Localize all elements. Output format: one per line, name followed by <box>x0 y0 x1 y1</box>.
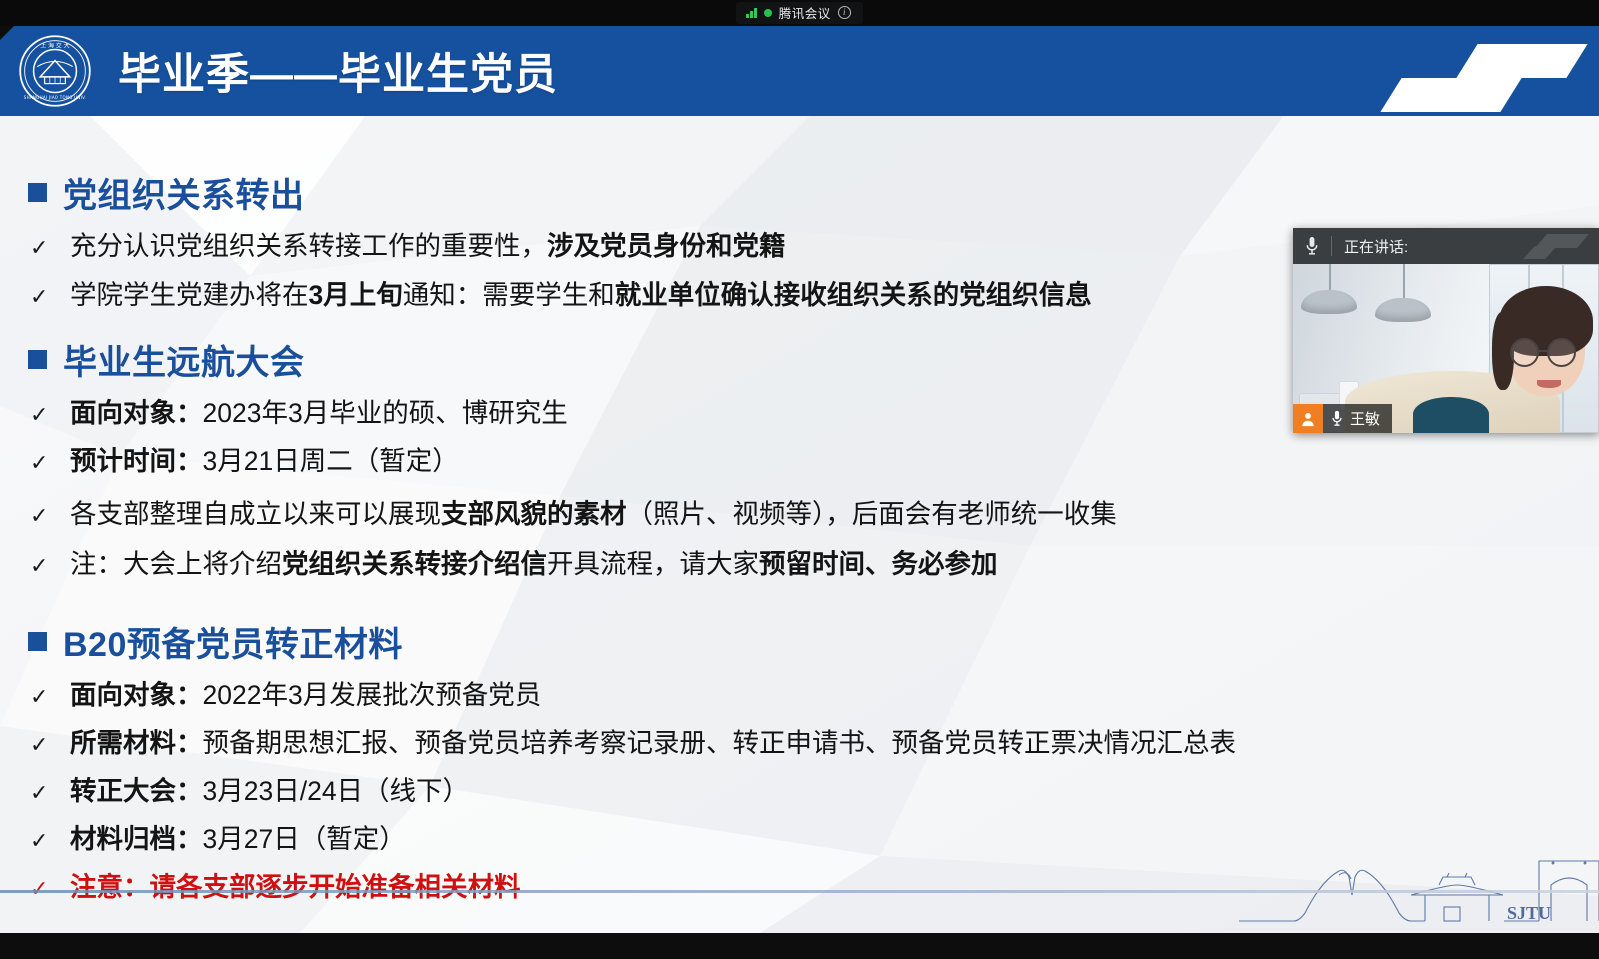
speaking-status-label: 正在讲话: <box>1344 236 1408 257</box>
square-bullet-icon <box>28 350 47 369</box>
bullet-item-text: 所需材料：预备期思想汇报、预备党员培养考察记录册、转正申请书、预备党员转正票决情… <box>70 721 1236 760</box>
bullet-item-text: 材料归档：3月27日（暂定） <box>70 817 406 856</box>
bullet-item-text: 预计时间：3月21日周二（暂定） <box>70 439 459 478</box>
section-heading: B20预备党员转正材料 <box>28 617 403 666</box>
speaker-name-chip: 王敏 <box>1323 404 1392 433</box>
check-icon: ✓ <box>30 503 46 529</box>
section-heading: 毕业生远航大会 <box>28 335 305 384</box>
video-feed: 王敏 <box>1293 264 1599 433</box>
eyeglasses-icon <box>1510 338 1539 367</box>
microphone-icon[interactable] <box>1305 236 1319 256</box>
microphone-icon <box>1331 410 1343 427</box>
bottom-letterbox <box>0 933 1599 959</box>
check-icon: ✓ <box>30 684 46 710</box>
bullet-item: ✓注意：请各支部逐步开始准备相关材料 <box>30 865 521 904</box>
parallelogram-decor <box>1456 44 1587 78</box>
check-icon: ✓ <box>30 732 46 758</box>
sjtu-seal-logo: 上 海 交 大 SHANGHAI JIAO TONG UNIV. <box>18 34 92 108</box>
info-icon[interactable]: i <box>838 6 851 19</box>
square-bullet-icon <box>28 632 47 651</box>
user-avatar-icon <box>1293 404 1323 433</box>
bullet-item: ✓各支部整理自成立以来可以展现支部风貌的素材（照片、视频等），后面会有老师统一收… <box>30 492 1117 531</box>
section-heading-label: 毕业生远航大会 <box>63 335 305 384</box>
check-icon: ✓ <box>30 828 46 854</box>
meeting-status-pill[interactable]: 腾讯会议 i <box>736 2 863 24</box>
check-icon: ✓ <box>30 780 46 806</box>
section-heading-label: 党组织关系转出 <box>63 168 305 217</box>
check-icon: ✓ <box>30 876 46 902</box>
recording-dot-icon <box>764 9 772 17</box>
video-footer: 王敏 <box>1293 404 1392 433</box>
video-panel-header: 正在讲话: <box>1293 228 1599 264</box>
slide-header: 上 海 交 大 SHANGHAI JIAO TONG UNIV. 毕业季——毕业… <box>0 26 1599 116</box>
check-icon: ✓ <box>30 553 46 579</box>
parallelogram-decor <box>1380 78 1521 112</box>
speaker-name: 王敏 <box>1350 408 1380 429</box>
person-portrait <box>1379 274 1529 433</box>
section-heading-label: B20预备党员转正材料 <box>63 617 403 666</box>
bullet-item: ✓材料归档：3月27日（暂定） <box>30 817 406 856</box>
footer-divider <box>0 890 1599 893</box>
bullet-item: ✓学院学生党建办将在3月上旬通知：需要学生和就业单位确认接收组织关系的党组织信息 <box>30 273 1092 312</box>
bullet-item-text: 注：大会上将介绍党组织关系转接介绍信开具流程，请大家预留时间、务必参加 <box>70 542 998 581</box>
slide-title: 毕业季——毕业生党员 <box>118 40 558 102</box>
check-icon: ✓ <box>30 402 46 428</box>
tencent-meeting-topbar: 腾讯会议 i <box>0 0 1599 26</box>
square-bullet-icon <box>28 183 47 202</box>
presentation-slide: 上 海 交 大 SHANGHAI JIAO TONG UNIV. 毕业季——毕业… <box>0 26 1599 933</box>
bullet-item-text: 面向对象：2023年3月毕业的硕、博研究生 <box>70 391 568 430</box>
bullet-item-text: 学院学生党建办将在3月上旬通知：需要学生和就业单位确认接收组织关系的党组织信息 <box>70 273 1092 312</box>
bullet-item: ✓面向对象：2022年3月发展批次预备党员 <box>30 673 541 712</box>
bullet-item-text: 充分认识党组织关系转接工作的重要性，涉及党员身份和党籍 <box>70 224 786 263</box>
meeting-app-label: 腾讯会议 <box>779 3 831 22</box>
check-icon: ✓ <box>30 284 46 310</box>
bullet-item-text: 各支部整理自成立以来可以展现支部风貌的素材（照片、视频等），后面会有老师统一收集 <box>70 492 1117 531</box>
bullet-item: ✓充分认识党组织关系转接工作的重要性，涉及党员身份和党籍 <box>30 224 786 263</box>
bullet-item-text: 注意：请各支部逐步开始准备相关材料 <box>70 865 521 904</box>
bullet-item-text: 转正大会：3月23日/24日（线下） <box>70 769 469 808</box>
signal-bars-icon <box>746 7 757 18</box>
bullet-item-text: 面向对象：2022年3月发展批次预备党员 <box>70 673 541 712</box>
bullet-item: ✓预计时间：3月21日周二（暂定） <box>30 439 459 478</box>
bullet-item: ✓转正大会：3月23日/24日（线下） <box>30 769 469 808</box>
check-icon: ✓ <box>30 450 46 476</box>
check-icon: ✓ <box>30 235 46 261</box>
header-divider <box>1331 236 1332 256</box>
video-call-panel[interactable]: 正在讲话: <box>1293 228 1599 433</box>
screen-root: 腾讯会议 i <box>0 0 1599 959</box>
section-heading: 党组织关系转出 <box>28 168 305 217</box>
svg-text:SHANGHAI JIAO TONG UNIV.: SHANGHAI JIAO TONG UNIV. <box>24 95 86 100</box>
bullet-item: ✓注：大会上将介绍党组织关系转接介绍信开具流程，请大家预留时间、务必参加 <box>30 542 998 581</box>
bullet-item: ✓面向对象：2023年3月毕业的硕、博研究生 <box>30 391 568 430</box>
bullet-item: ✓所需材料：预备期思想汇报、预备党员培养考察记录册、转正申请书、预备党员转正票决… <box>30 721 1236 760</box>
tencent-meeting-logo-ghost <box>1497 232 1589 260</box>
